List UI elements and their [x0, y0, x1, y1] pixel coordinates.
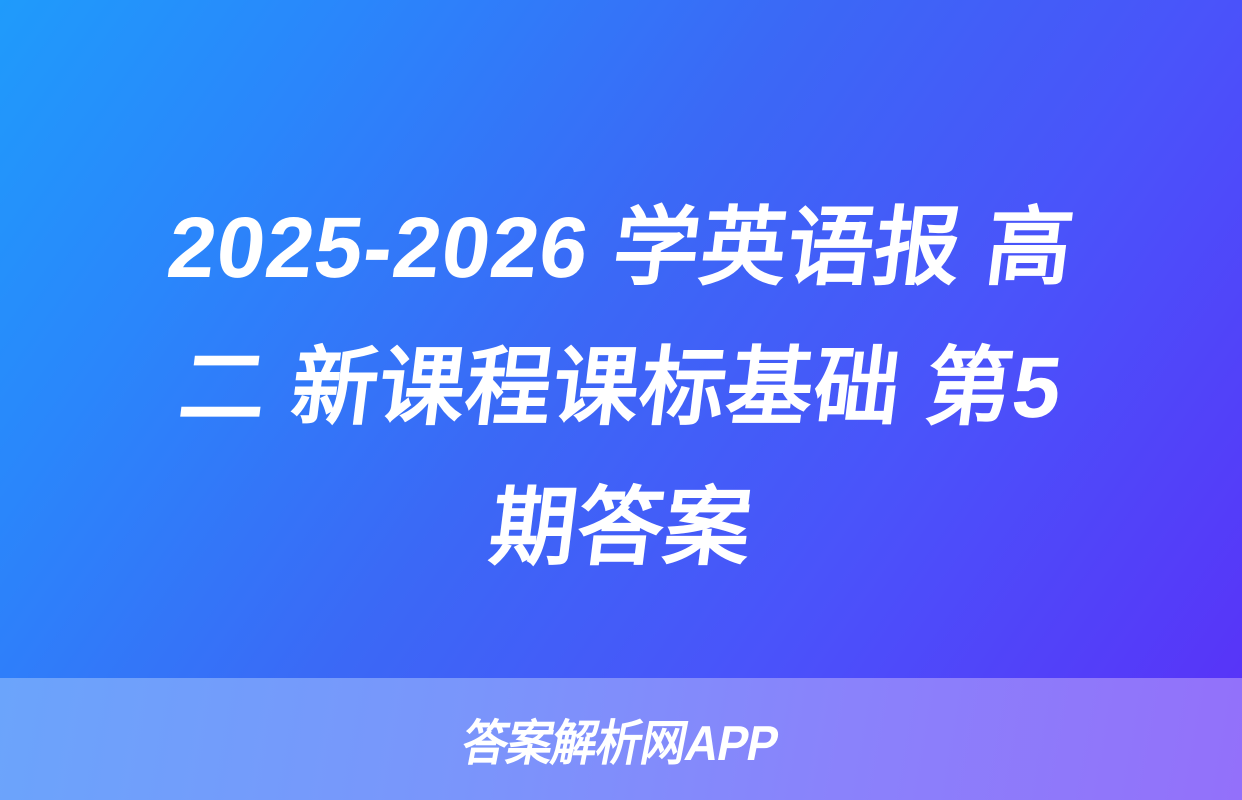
title-line-2: 二 新课程课标基础 第5	[25, 318, 1216, 458]
footer-brand-text: 答案解析网APP	[457, 704, 785, 775]
answer-card: 2025-2026 学英语报 高 二 新课程课标基础 第5 期答案 答案解析网A…	[0, 0, 1242, 800]
title-line-1: 2025-2026 学英语报 高	[25, 178, 1216, 318]
title-line-3: 期答案	[25, 458, 1216, 598]
footer-brand-band: 答案解析网APP	[0, 678, 1242, 800]
title-block: 2025-2026 学英语报 高 二 新课程课标基础 第5 期答案	[0, 178, 1242, 598]
